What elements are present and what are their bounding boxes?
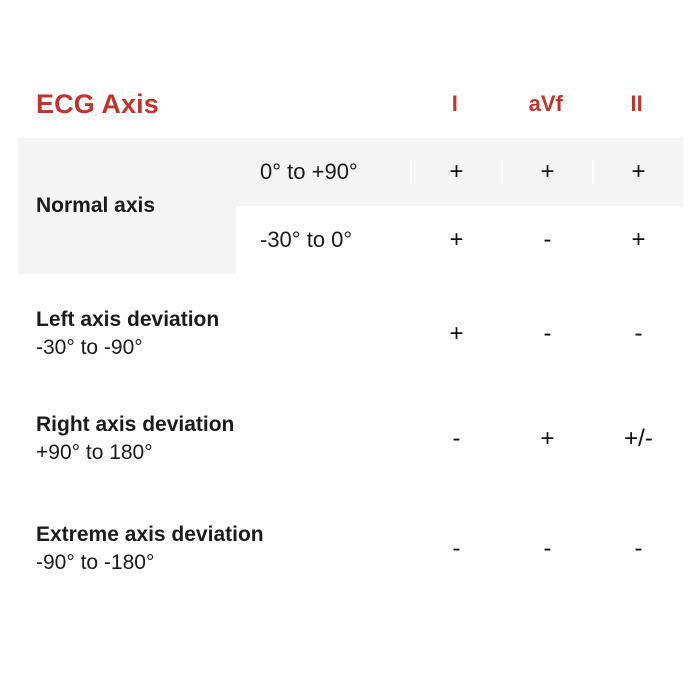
cell-lead-i: -: [410, 387, 501, 491]
column-header-lead-i: I: [409, 93, 500, 115]
page-title: ECG Axis: [18, 91, 409, 118]
column-header-lead-ii: II: [591, 93, 682, 115]
table-row-left-axis-deviation: Left axis deviation -30° to -90° + - -: [18, 283, 682, 385]
cell-lead-ii: +/-: [592, 387, 683, 491]
cell-lead-ii: -: [592, 493, 683, 605]
cell-lead-avf: -: [501, 493, 592, 605]
cell-lead-i: +: [410, 283, 501, 385]
cell-lead-avf: +: [501, 160, 592, 184]
row-range: +90° to 180°: [36, 441, 392, 465]
row-name: Left axis deviation: [36, 308, 392, 332]
cell-angle-range: -30° to 0°: [236, 229, 410, 251]
cell-lead-avf: +: [501, 387, 592, 491]
cell-lead-avf: -: [501, 283, 592, 385]
row-separator: [18, 274, 682, 283]
row-range: -90° to -180°: [36, 551, 392, 575]
table-subrow: 0° to +90° + + +: [236, 138, 683, 206]
cell-lead-ii: -: [592, 283, 683, 385]
ecg-axis-table-page: ECG Axis I aVf II Normal axis 0° to +90°…: [0, 0, 700, 700]
column-header-lead-avf: aVf: [500, 93, 591, 115]
cell-lead-avf: -: [501, 228, 592, 252]
cell-lead-i: -: [410, 493, 501, 605]
table-header-row: ECG Axis I aVf II: [18, 78, 682, 130]
cell-lead-ii: +: [592, 160, 683, 184]
cell-lead-i: +: [410, 160, 501, 184]
table-row-normal-axis: Normal axis 0° to +90° + + + -30° to 0° …: [18, 138, 682, 274]
cell-angle-range: 0° to +90°: [236, 161, 410, 183]
row-name: Right axis deviation: [36, 413, 392, 437]
row-label-cell: Left axis deviation -30° to -90°: [18, 283, 410, 385]
row-range: -30° to -90°: [36, 336, 392, 360]
row-label-cell: Right axis deviation +90° to 180°: [18, 387, 410, 491]
table-row-extreme-axis-deviation: Extreme axis deviation -90° to -180° - -…: [18, 493, 682, 605]
cell-lead-i: +: [410, 228, 501, 252]
table-body: Normal axis 0° to +90° + + + -30° to 0° …: [18, 138, 682, 602]
table-subrow: -30° to 0° + - +: [236, 206, 683, 274]
row-name: Extreme axis deviation: [36, 523, 392, 547]
row-name: Normal axis: [36, 194, 218, 218]
table-row-right-axis-deviation: Right axis deviation +90° to 180° - + +/…: [18, 387, 682, 491]
row-subrows: 0° to +90° + + + -30° to 0° + - +: [236, 138, 683, 274]
cell-lead-ii: +: [592, 228, 683, 252]
row-label-cell: Extreme axis deviation -90° to -180°: [18, 493, 410, 605]
row-label-cell: Normal axis: [18, 138, 236, 274]
